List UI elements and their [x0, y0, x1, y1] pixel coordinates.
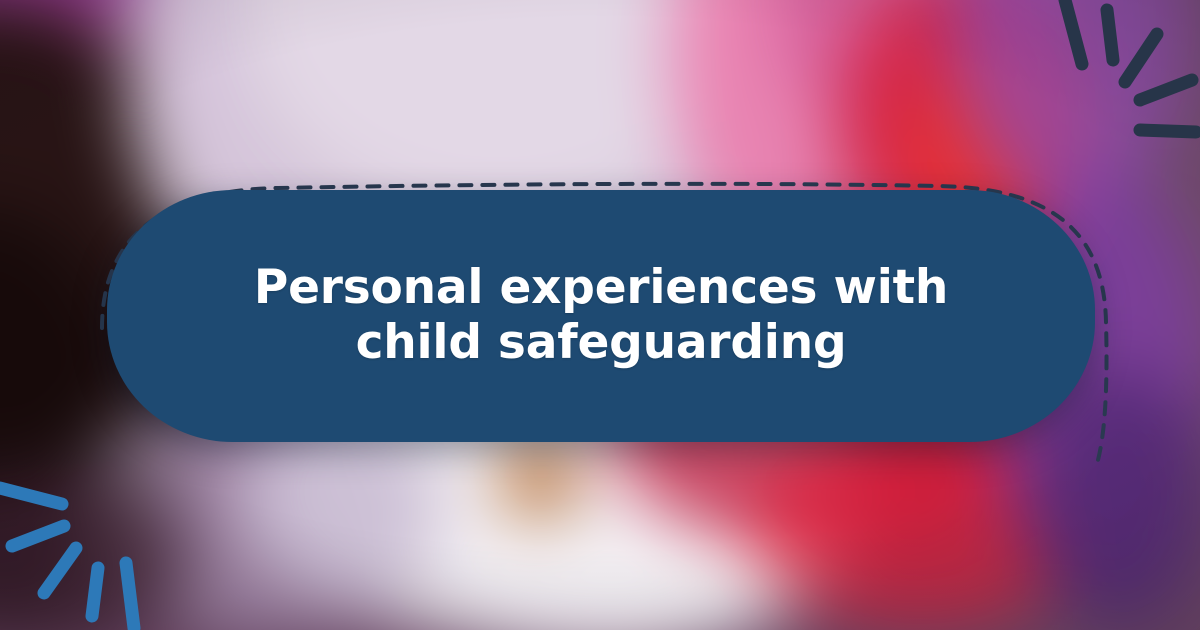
page-title: Personal experiences with child safeguar… [174, 261, 1028, 370]
title-card: Personal experiences with child safeguar… [107, 190, 1095, 442]
hero-card-canvas: Personal experiences with child safeguar… [0, 0, 1200, 630]
